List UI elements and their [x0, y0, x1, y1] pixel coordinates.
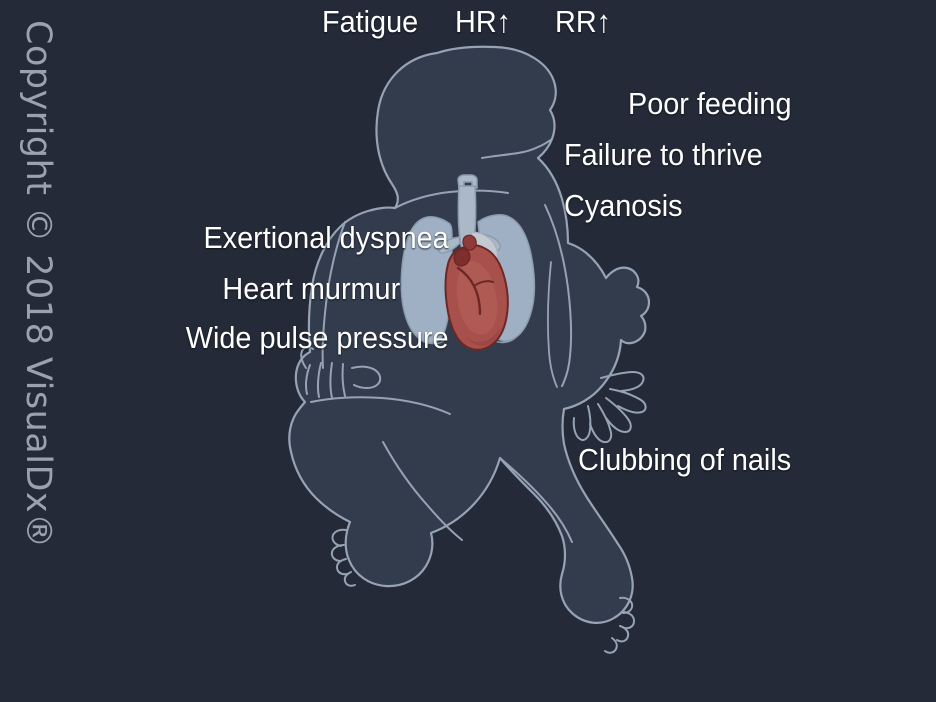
label-respiratory-rate-increased: RR↑: [555, 6, 611, 37]
left-atrial-appendage: [454, 249, 470, 266]
label-failure-to-thrive: Failure to thrive: [564, 139, 763, 170]
label-heart-rate-increased: HR↑: [455, 6, 511, 37]
label-wide-pulse-pressure: Wide pulse pressure: [186, 322, 449, 353]
infant-anatomy-illustration: [0, 0, 936, 702]
label-cyanosis: Cyanosis: [564, 190, 683, 221]
copyright-watermark: Copyright © 2018 VisualDx®: [18, 20, 58, 520]
label-heart-murmur: Heart murmur: [222, 273, 400, 304]
label-fatigue: Fatigue: [322, 6, 418, 37]
vena-cava: [463, 235, 476, 250]
illustration-canvas: Copyright © 2018 VisualDx® Fatigue HR↑ R…: [0, 0, 936, 702]
label-poor-feeding: Poor feeding: [628, 88, 792, 119]
label-clubbing-of-nails: Clubbing of nails: [578, 444, 791, 475]
label-exertional-dyspnea: Exertional dyspnea: [204, 222, 449, 253]
